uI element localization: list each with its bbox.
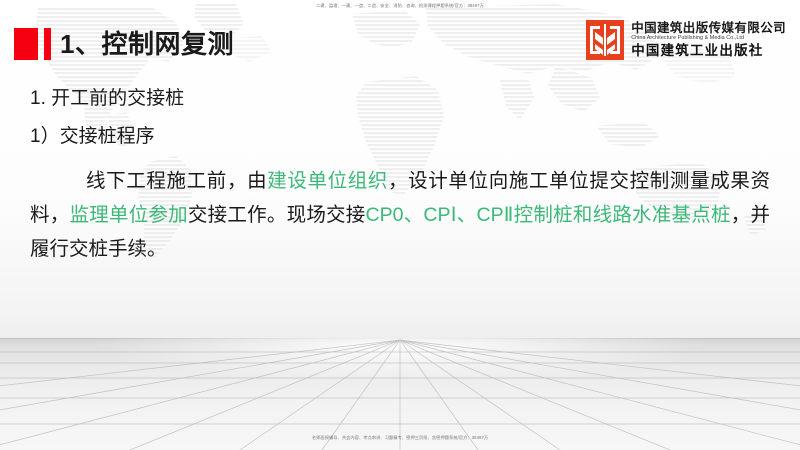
body-paragraph: 线下工程施工前，由建设单位组织，设计单位向施工单位提交控制测量成果资料，监理单位… bbox=[30, 164, 770, 266]
paragraph-run-1: 建设单位组织 bbox=[267, 170, 388, 192]
slide-floor-perspective bbox=[0, 338, 800, 450]
slide-body: 1. 开工前的交接桩 1）交接桩程序 线下工程施工前，由建设单位组织，设计单位向… bbox=[0, 82, 800, 266]
heading-level-1: 1. 开工前的交接桩 bbox=[30, 82, 800, 116]
publisher-imprint-cn: 中国建筑工业出版社 bbox=[631, 45, 786, 59]
publisher-company-cn: 中国建筑出版传媒有限公司 bbox=[631, 22, 786, 35]
paragraph-run-0: 线下工程施工前，由 bbox=[86, 170, 267, 192]
publisher-logo: 中国建筑出版传媒有限公司 China Architecture Publishi… bbox=[586, 20, 786, 60]
floor-grid bbox=[0, 338, 800, 450]
title-accent-block-narrow bbox=[44, 28, 51, 60]
top-banner-note: 二建、监理、一建、一造、二造、安全、消防、咨询、检测课程押题系统/官方：3849… bbox=[0, 3, 800, 9]
paragraph-run-5: CP0、CPⅠ、CPⅡ控制桩和线路水准基点桩 bbox=[366, 204, 731, 226]
paragraph-run-3: 监理单位参加 bbox=[69, 204, 187, 226]
publisher-logo-mark-icon bbox=[586, 20, 624, 60]
bottom-note: 名师面授辅导、共会内容、考点串讲、习题精专、密押三页纸、含密押题系统/官方：38… bbox=[0, 435, 800, 441]
heading-level-2: 1）交接桩程序 bbox=[30, 120, 800, 154]
publisher-logo-text: 中国建筑出版传媒有限公司 China Architecture Publishi… bbox=[631, 22, 786, 58]
presentation-slide: 1、控制网复测 二建、监理、一建、一造、二造、安全、消防、咨询、检测课程押题系统… bbox=[0, 0, 800, 450]
paragraph-run-4: 交接工作。现场交接 bbox=[188, 204, 366, 226]
page-title: 1、控制网复测 bbox=[60, 24, 234, 64]
publisher-company-en: China Architecture Publishing & Media Co… bbox=[631, 36, 786, 41]
title-accent-block-wide bbox=[14, 28, 38, 60]
